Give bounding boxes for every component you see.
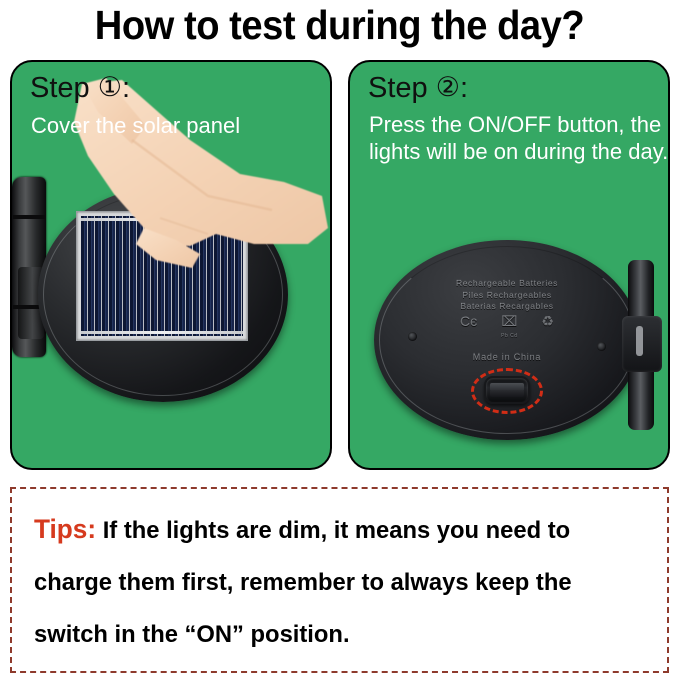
step-1-heading-suffix: : [122,72,130,104]
screw-hole-left [408,332,417,341]
ce-mark-icon: Cє [460,314,477,328]
embossed-origin-text: Made in China [374,352,640,364]
solar-busbar-bottom [81,331,243,334]
step-1-number-icon: ① [98,72,122,102]
screw-hole-right [597,342,606,351]
embossed-line-3: Baterias Recargables [374,301,640,313]
bin-glyph: ⌧ [501,313,517,329]
crossed-out-wheelie-bin-icon: ⌧ Pb Cd [501,314,517,328]
embossed-line-2: Piles Rechargeables [374,290,640,302]
solar-light-back-cover: Rechargeable Batteries Piles Rechargeabl… [374,240,640,440]
tips-label: Tips: [34,514,96,544]
embossed-symbols: Cє ⌧ Pb Cd ♻ [374,314,640,328]
recycling-triangle-icon: ♻ [541,314,554,328]
step-2-body: Press the ON/OFF button, the lights will… [369,111,669,165]
step-1-heading-prefix: Step [30,72,98,104]
page-title: How to test during the day? [24,2,655,48]
step-panel-2: Rechargeable Batteries Piles Rechargeabl… [348,60,670,470]
tips-box: Tips: If the lights are dim, it means yo… [10,487,669,673]
on-off-highlight-ring [471,368,543,414]
step-2-photo: Rechargeable Batteries Piles Rechargeabl… [350,212,668,470]
step-2-number-icon: ② [436,72,460,102]
step-1-heading: Step ①: [30,72,130,105]
step-2-heading: Step ②: [368,72,468,105]
step-1-body: Cover the solar panel [31,112,321,139]
bin-substance-label: Pb Cd [501,329,517,343]
tips-text-block: Tips: If the lights are dim, it means yo… [34,503,632,661]
tips-body: If the lights are dim, it means you need… [34,517,572,648]
step-2-heading-prefix: Step [368,72,436,104]
hand-icon [40,78,330,288]
embossed-line-1: Rechargeable Batteries [374,278,640,290]
embossed-battery-text: Rechargeable Batteries Piles Rechargeabl… [374,278,640,313]
step-2-heading-suffix: : [460,72,468,104]
step-panel-1: Step ①: Cover the solar panel [10,60,332,470]
